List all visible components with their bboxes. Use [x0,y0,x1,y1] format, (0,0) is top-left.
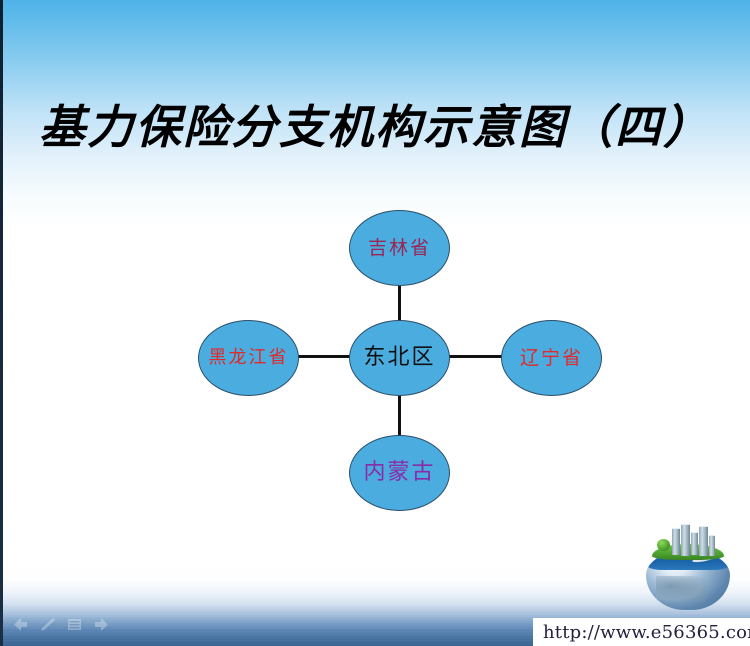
globe-building-5 [709,535,715,556]
watermark-box: http://www.e56365.com [533,618,750,646]
globe-city-icon [640,524,736,612]
node-liaoning[interactable]: 辽宁省 [501,320,602,396]
globe-building-2 [681,524,690,556]
edge-dongbei-to-jilin [398,282,401,324]
node-heilongjiang[interactable]: 黑龙江省 [198,320,299,396]
node-heilongjiang-label: 黑龙江省 [209,349,289,367]
slide-canvas: 基力保险分支机构示意图（四） 吉林省 黑龙江省 东北区 辽宁省 内蒙古 [0,0,750,646]
globe-building-3 [691,532,698,555]
pen-icon[interactable] [39,617,56,632]
edge-dongbei-to-liaoning [446,355,504,358]
globe-building-1 [672,528,680,555]
presentation-nav-controls[interactable] [12,617,110,632]
edge-dongbei-to-neimenggu [398,390,401,438]
node-neimenggu-label: 内蒙古 [363,462,435,484]
globe-continent-map [656,576,706,602]
back-arrow-icon[interactable] [12,617,29,632]
globe-building-4 [699,526,708,556]
node-jilin[interactable]: 吉林省 [349,210,450,286]
watermark-url: http://www.e56365.com [533,622,750,643]
globe-tree-icon [657,539,670,551]
node-dongbei-label: 东北区 [363,347,435,369]
forward-arrow-icon[interactable] [93,617,110,632]
node-dongbei[interactable]: 东北区 [349,320,450,396]
node-jilin-label: 吉林省 [368,239,431,258]
edge-dongbei-to-heilongjiang [296,355,354,358]
node-liaoning-label: 辽宁省 [520,349,583,368]
menu-icon[interactable] [66,617,83,632]
node-neimenggu[interactable]: 内蒙古 [349,435,450,511]
org-diagram: 吉林省 黑龙江省 东北区 辽宁省 内蒙古 [0,0,750,646]
